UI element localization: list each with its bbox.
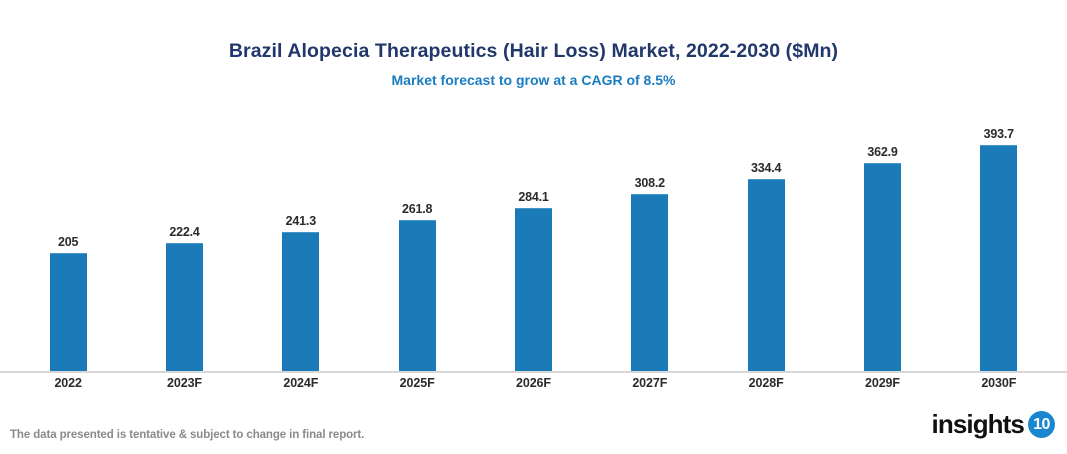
x-axis-label: 2027F bbox=[592, 376, 708, 390]
bar-value-label: 205 bbox=[58, 235, 78, 249]
bar-group[interactable]: 241.3 bbox=[243, 108, 359, 371]
bar-group[interactable]: 222.4 bbox=[126, 108, 242, 371]
footnote: The data presented is tentative & subjec… bbox=[10, 429, 364, 441]
bar-series: 205222.4241.3261.8284.1308.2334.4362.939… bbox=[10, 108, 1057, 371]
x-axis-label: 2028F bbox=[708, 376, 824, 390]
x-axis-label: 2030F bbox=[941, 376, 1057, 390]
bar-group[interactable]: 308.2 bbox=[592, 108, 708, 371]
bar-value-label: 334.4 bbox=[751, 161, 781, 175]
x-axis-label: 2024F bbox=[243, 376, 359, 390]
chart-title-block: Brazil Alopecia Therapeutics (Hair Loss)… bbox=[0, 0, 1067, 89]
bar-group[interactable]: 261.8 bbox=[359, 108, 475, 371]
bar[interactable] bbox=[864, 163, 901, 371]
bar-group[interactable]: 362.9 bbox=[824, 108, 940, 371]
x-axis-tick-labels: 20222023F2024F2025F2026F2027F2028F2029F2… bbox=[10, 376, 1057, 390]
bar-value-label: 393.7 bbox=[984, 127, 1014, 141]
x-axis-label: 2029F bbox=[824, 376, 940, 390]
bar[interactable] bbox=[399, 220, 436, 371]
plot-area: 205222.4241.3261.8284.1308.2334.4362.939… bbox=[10, 108, 1057, 371]
bar-group[interactable]: 393.7 bbox=[941, 108, 1057, 371]
bar-value-label: 284.1 bbox=[518, 190, 548, 204]
chart-subtitle: Market forecast to grow at a CAGR of 8.5… bbox=[0, 72, 1067, 89]
bar-value-label: 261.8 bbox=[402, 202, 432, 216]
bar-group[interactable]: 334.4 bbox=[708, 108, 824, 371]
bar[interactable] bbox=[282, 232, 319, 371]
x-axis-label: 2026F bbox=[475, 376, 591, 390]
bar[interactable] bbox=[748, 179, 785, 371]
x-axis-label: 2022 bbox=[10, 376, 126, 390]
x-axis-line bbox=[0, 371, 1067, 373]
bar[interactable] bbox=[50, 253, 87, 371]
bar[interactable] bbox=[166, 243, 203, 371]
x-axis-label: 2023F bbox=[126, 376, 242, 390]
brand-badge-icon: 10 bbox=[1028, 411, 1055, 438]
page-title: Brazil Alopecia Therapeutics (Hair Loss)… bbox=[0, 40, 1067, 63]
bar[interactable] bbox=[631, 194, 668, 371]
bar-value-label: 222.4 bbox=[169, 225, 199, 239]
bar-group[interactable]: 205 bbox=[10, 108, 126, 371]
bar-value-label: 241.3 bbox=[286, 214, 316, 228]
chart-figure: Brazil Alopecia Therapeutics (Hair Loss)… bbox=[0, 0, 1067, 454]
bar-group[interactable]: 284.1 bbox=[475, 108, 591, 371]
bar[interactable] bbox=[515, 208, 552, 371]
bar-value-label: 308.2 bbox=[635, 176, 665, 190]
x-axis-label: 2025F bbox=[359, 376, 475, 390]
bar[interactable] bbox=[980, 145, 1017, 371]
bar-value-label: 362.9 bbox=[867, 145, 897, 159]
brand-logo: insights 10 bbox=[932, 409, 1055, 440]
brand-name: insights bbox=[932, 409, 1024, 440]
